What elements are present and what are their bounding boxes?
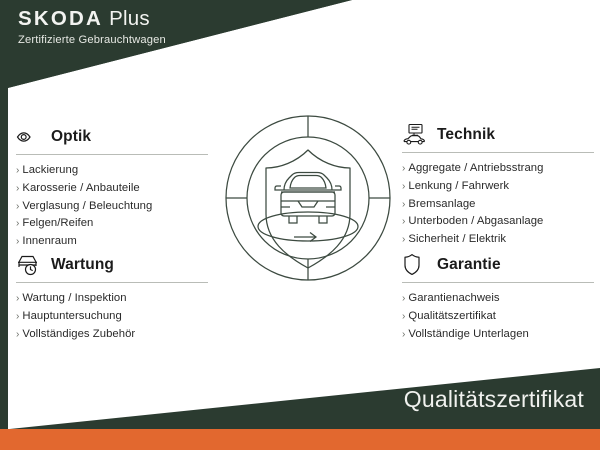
chevron-right-icon: ›	[16, 329, 19, 340]
chevron-right-icon: ›	[16, 293, 19, 304]
list-item: ›Wartung / Inspektion	[16, 290, 208, 308]
inner-arc-tl	[247, 137, 308, 198]
section-optik-list: ›Lackierung ›Karosserie / Anbauteile ›Ve…	[16, 162, 208, 251]
shield-icon	[402, 251, 432, 279]
car-mirror-right	[332, 186, 341, 190]
list-item-label: Verglasung / Beleuchtung	[22, 200, 152, 212]
section-technik: Technik ›Aggregate / Antriebsstrang ›Len…	[402, 120, 594, 249]
list-item-label: Garantienachweis	[408, 292, 499, 304]
list-item-label: Sicherheit / Elektrik	[408, 233, 506, 245]
list-item: ›Hauptuntersuchung	[16, 308, 208, 326]
list-item-label: Vollständige Unterlagen	[408, 328, 528, 340]
section-wartung-head: Wartung	[16, 250, 208, 280]
list-item: ›Verglasung / Beleuchtung	[16, 198, 208, 216]
brand-lockup: SKODA Plus	[18, 8, 348, 31]
list-item-label: Karosserie / Anbauteile	[22, 182, 139, 194]
brand-suffix: Plus	[109, 7, 150, 30]
column-right-technik: Technik ›Aggregate / Antriebsstrang ›Len…	[402, 120, 594, 249]
section-technik-head: Technik	[402, 120, 594, 150]
column-left-wartung: Wartung ›Wartung / Inspektion ›Hauptunte…	[16, 250, 208, 343]
list-item-label: Unterboden / Abgasanlage	[408, 215, 543, 227]
brand-subtitle: Zertifizierte Gebrauchtwagen	[18, 34, 348, 46]
section-optik-head: Optik	[16, 122, 208, 152]
brand-header: SKODA Plus Zertifizierte Gebrauchtwagen	[18, 8, 348, 46]
car-service-icon	[16, 251, 46, 279]
section-wartung-list: ›Wartung / Inspektion ›Hauptuntersuchung…	[16, 290, 208, 343]
list-item: ›Aggregate / Antriebsstrang	[402, 160, 594, 178]
section-garantie-head: Garantie	[402, 250, 594, 280]
list-item-label: Hauptuntersuchung	[22, 310, 121, 322]
section-garantie: Garantie ›Garantienachweis ›Qualitätszer…	[402, 250, 594, 343]
inner-arc-br	[308, 198, 369, 259]
section-technik-rule	[402, 152, 594, 153]
orange-bottom-stripe	[0, 429, 600, 450]
car-wheel-left	[289, 216, 297, 223]
section-technik-title: Technik	[437, 126, 495, 144]
section-garantie-title: Garantie	[437, 256, 501, 274]
outer-arc-tr	[308, 116, 390, 198]
list-item-label: Aggregate / Antriebsstrang	[408, 162, 543, 174]
section-garantie-rule	[402, 282, 594, 283]
list-item-label: Felgen/Reifen	[22, 217, 93, 229]
section-wartung-rule	[16, 282, 208, 283]
qualitaetszertifikat-infographic: SKODA Plus Zertifizierte Gebrauchtwagen …	[0, 0, 600, 450]
section-optik: Optik ›Lackierung ›Karosserie / Anbautei…	[16, 122, 208, 251]
car-mirror-left	[275, 186, 284, 190]
eye-icon	[16, 123, 46, 151]
car-diagnostics-icon	[402, 121, 432, 149]
outer-arc-br	[308, 198, 390, 280]
chevron-right-icon: ›	[402, 216, 405, 227]
section-optik-rule	[16, 154, 208, 155]
inner-arc-bl	[247, 198, 308, 259]
list-item: ›Innenraum	[16, 233, 208, 251]
car-shield-circle-emblem	[224, 104, 392, 296]
list-item-label: Bremsanlage	[408, 198, 475, 210]
inner-arc-tr	[308, 137, 369, 198]
list-item: ›Bremsanlage	[402, 196, 594, 214]
chevron-right-icon: ›	[402, 293, 405, 304]
list-item: ›Karosserie / Anbauteile	[16, 180, 208, 198]
section-optik-title: Optik	[51, 128, 91, 146]
chevron-right-icon: ›	[402, 199, 405, 210]
chevron-right-icon: ›	[16, 165, 19, 176]
car-wheel-right	[319, 216, 327, 223]
list-item: ›Sicherheit / Elektrik	[402, 231, 594, 249]
list-item: ›Vollständige Unterlagen	[402, 326, 594, 344]
car-grille	[298, 201, 318, 207]
column-left-optik: Optik ›Lackierung ›Karosserie / Anbautei…	[16, 122, 208, 251]
chevron-right-icon: ›	[402, 329, 405, 340]
list-item-label: Innenraum	[22, 235, 76, 247]
column-right-garantie: Garantie ›Garantienachweis ›Qualitätszer…	[402, 250, 594, 343]
list-item-label: Lenkung / Fahrwerk	[408, 180, 509, 192]
chevron-right-icon: ›	[16, 201, 19, 212]
chevron-right-icon: ›	[16, 218, 19, 229]
footer-headline: Qualitätszertifikat	[404, 386, 584, 413]
section-wartung: Wartung ›Wartung / Inspektion ›Hauptunte…	[16, 250, 208, 343]
list-item: ›Vollständiges Zubehör	[16, 326, 208, 344]
outer-arc-bl	[226, 198, 308, 280]
list-item: ›Qualitätszertifikat	[402, 308, 594, 326]
list-item-label: Qualitätszertifikat	[408, 310, 496, 322]
chevron-right-icon: ›	[402, 311, 405, 322]
list-item: ›Lackierung	[16, 162, 208, 180]
list-item-label: Vollständiges Zubehör	[22, 328, 135, 340]
list-item: ›Felgen/Reifen	[16, 215, 208, 233]
list-item-label: Wartung / Inspektion	[22, 292, 126, 304]
chevron-right-icon: ›	[16, 311, 19, 322]
chevron-right-icon: ›	[402, 181, 405, 192]
section-wartung-title: Wartung	[51, 256, 114, 274]
outer-arc-tl	[226, 116, 308, 198]
section-technik-list: ›Aggregate / Antriebsstrang ›Lenkung / F…	[402, 160, 594, 249]
chevron-right-icon: ›	[402, 234, 405, 245]
list-item: ›Unterboden / Abgasanlage	[402, 213, 594, 231]
left-dark-strip	[0, 55, 8, 435]
list-item-label: Lackierung	[22, 164, 78, 176]
brand-name: SKODA	[18, 7, 103, 30]
car-windscreen	[290, 176, 326, 189]
section-garantie-list: ›Garantienachweis ›Qualitätszertifikat ›…	[402, 290, 594, 343]
chevron-right-icon: ›	[16, 183, 19, 194]
list-item: ›Lenkung / Fahrwerk	[402, 178, 594, 196]
chevron-right-icon: ›	[402, 163, 405, 174]
list-item: ›Garantienachweis	[402, 290, 594, 308]
shield-outline	[266, 150, 350, 268]
chevron-right-icon: ›	[16, 236, 19, 247]
